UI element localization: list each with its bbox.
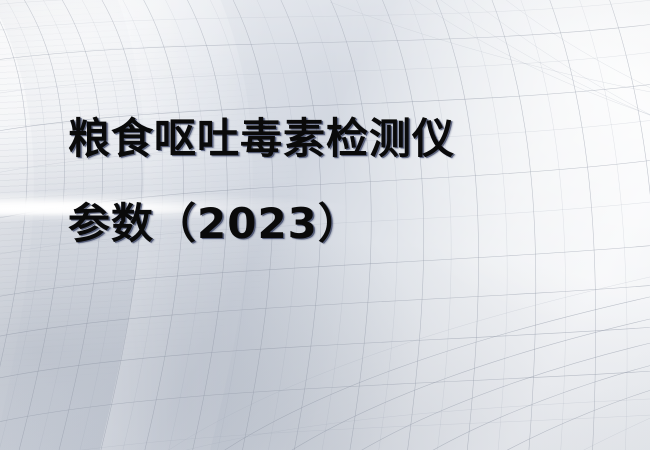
poster-title: 粮食呕吐毒素检测仪 参数（2023） — [68, 118, 628, 245]
title-line-primary: 粮食呕吐毒素检测仪 — [68, 118, 628, 160]
title-line-secondary: 参数（2023） — [68, 203, 628, 245]
title-slide: 粮食呕吐毒素检测仪 参数（2023） — [0, 0, 650, 450]
